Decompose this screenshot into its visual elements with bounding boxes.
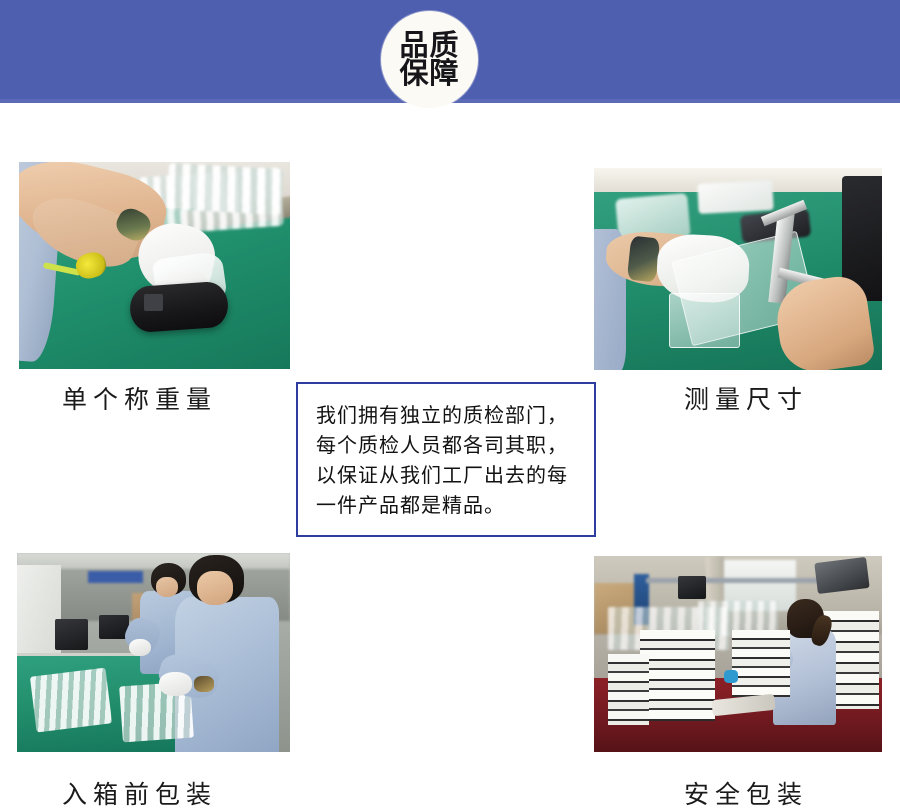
black-equipment-1 — [55, 619, 88, 651]
plastic-bag-stack-back — [167, 163, 283, 214]
caption-pre-box-packing: 入箱前包装 — [62, 775, 217, 811]
white-box-stack-left — [608, 654, 648, 725]
blue-item — [724, 670, 738, 684]
white-box-stack-center — [732, 630, 790, 697]
caption-safe-packing: 安全包装 — [684, 775, 808, 811]
worker-2-face — [197, 571, 232, 605]
monitor-2 — [814, 557, 869, 594]
photo-weighing-scene — [19, 162, 290, 369]
seal-line-2: 保障 — [399, 59, 459, 89]
quality-description-box: 我们拥有独立的质检部门， 每个质检人员都各司其职， 以保证从我们工厂出去的每 一… — [296, 382, 596, 537]
photo-pre-box-packing — [17, 553, 290, 752]
white-box-stack-main — [640, 630, 715, 720]
white-packaging-bag — [697, 180, 773, 214]
quality-description-text: 我们拥有独立的质检部门， 每个质检人员都各司其职， 以保证从我们工厂出去的每 一… — [298, 384, 594, 520]
description-line-2: 每个质检人员都各司其职， — [316, 430, 580, 460]
photo-safe-packing-scene — [594, 556, 882, 752]
clear-acrylic-tray — [669, 293, 740, 348]
description-line-3: 以保证从我们工厂出去的每 — [316, 460, 580, 490]
packed-products-row — [30, 668, 113, 733]
photo-pre-box-packing-scene — [17, 553, 290, 752]
photo-weighing — [19, 162, 290, 369]
description-line-1: 我们拥有独立的质检部门， — [316, 400, 580, 430]
caption-weighing: 单个称重量 — [62, 380, 217, 416]
wristwatch — [626, 235, 659, 282]
quality-seal-badge: 品质 保障 — [381, 11, 478, 108]
photo-safe-packing — [594, 556, 882, 752]
worker-1-face — [156, 577, 178, 597]
worker-1-glove — [129, 639, 151, 657]
description-line-4: 一件产品都是精品。 — [316, 490, 580, 520]
photo-measuring — [594, 168, 882, 370]
monitor-1 — [678, 576, 707, 600]
factory-blue-banner — [88, 571, 143, 583]
ceiling-beam — [646, 578, 819, 584]
quality-banner: 品质 保障 — [0, 0, 900, 103]
scale-display — [144, 294, 163, 311]
worker-2-watch — [194, 676, 213, 692]
worker-2-glove — [159, 672, 192, 696]
photo-measuring-scene — [594, 168, 882, 370]
caption-measuring: 测量尺寸 — [684, 380, 808, 416]
